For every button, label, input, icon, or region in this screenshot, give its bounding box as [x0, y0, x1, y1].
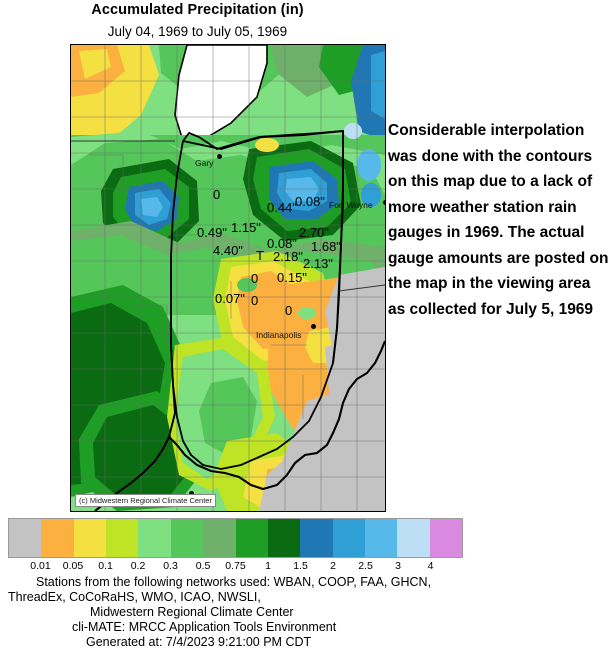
page-subtitle: July 04, 1969 to July 05, 1969 — [0, 24, 395, 39]
station-value: 2.70" — [299, 225, 329, 240]
city-dot-fort-wayne — [383, 200, 386, 205]
colorbar-tick: 0.05 — [63, 560, 83, 572]
colorbar-segment-1 — [41, 519, 73, 557]
station-value: T — [256, 248, 264, 263]
colorbar-segment-10 — [333, 519, 365, 557]
colorbar-swatches — [8, 518, 463, 558]
colorbar-tick: 2.5 — [358, 560, 373, 572]
colorbar-segment-2 — [74, 519, 106, 557]
colorbar-tick: 0.1 — [98, 560, 113, 572]
footer-organization: Midwestern Regional Climate Center — [90, 605, 294, 621]
colorbar-segment-12 — [397, 519, 429, 557]
colorbar-tick: 2 — [330, 560, 336, 572]
station-value: 1.15" — [231, 220, 261, 235]
station-value: 1.68" — [311, 239, 341, 254]
colorbar: 0.01 0.05 0.1 0.2 0.3 0.5 0.75 1 1.5 2 2… — [8, 518, 463, 576]
map-raster — [71, 45, 385, 511]
colorbar-tick: 4 — [428, 560, 434, 572]
colorbar-segment-0 — [9, 519, 41, 557]
city-label-fort-wayne: Fort Wayne — [329, 200, 373, 210]
colorbar-segment-4 — [138, 519, 170, 557]
colorbar-tick: 0.75 — [225, 560, 245, 572]
station-value: 4.40" — [213, 243, 243, 258]
colorbar-segment-5 — [171, 519, 203, 557]
colorbar-tick: 0.2 — [131, 560, 146, 572]
colorbar-segment-11 — [365, 519, 397, 557]
station-value: 0 — [285, 303, 292, 318]
colorbar-segment-6 — [203, 519, 235, 557]
city-dot-indianapolis — [311, 324, 316, 329]
station-value: 0.07" — [215, 291, 245, 306]
page-title: Accumulated Precipitation (in) — [0, 2, 395, 18]
footer-networks-line2: ThreadEx, CoCoRaHS, WMO, ICAO, NWSLI, — [8, 590, 261, 606]
station-value: 2.18" — [273, 249, 303, 264]
precipitation-map[interactable]: Gary Fort Wayne Indianapolis Evansville … — [70, 44, 386, 512]
station-value: 0.08" — [295, 194, 325, 209]
colorbar-tick: 0.3 — [163, 560, 178, 572]
station-value: 2.13" — [303, 256, 333, 271]
colorbar-tick: 1 — [265, 560, 271, 572]
colorbar-tick: 0.01 — [30, 560, 50, 572]
station-value: 0 — [251, 271, 258, 286]
station-value: 0.15" — [277, 270, 307, 285]
city-label-gary: Gary — [195, 158, 213, 168]
colorbar-segment-7 — [236, 519, 268, 557]
colorbar-segment-3 — [106, 519, 138, 557]
map-credit: (c) Midwestern Regional Climate Center — [75, 494, 216, 507]
colorbar-ticks: 0.01 0.05 0.1 0.2 0.3 0.5 0.75 1 1.5 2 2… — [8, 558, 463, 576]
colorbar-segment-8 — [268, 519, 300, 557]
footer-application: cli-MATE: MRCC Application Tools Environ… — [72, 620, 336, 636]
colorbar-tick: 3 — [395, 560, 401, 572]
colorbar-segment-13 — [430, 519, 462, 557]
station-value: 0 — [251, 293, 258, 308]
precipitation-map-page: Accumulated Precipitation (in) July 04, … — [0, 0, 611, 643]
station-value: 0.49" — [197, 225, 227, 240]
annotation-text: Considerable interpolation was done with… — [388, 118, 610, 322]
colorbar-tick: 1.5 — [293, 560, 308, 572]
footer-networks-line1: Stations from the following networks use… — [36, 575, 431, 591]
city-label-indianapolis: Indianapolis — [256, 330, 301, 340]
colorbar-segment-9 — [300, 519, 332, 557]
city-dot-gary — [217, 154, 222, 159]
colorbar-tick: 0.5 — [196, 560, 211, 572]
station-value: 0.44" — [267, 200, 297, 215]
station-value: 0 — [213, 187, 220, 202]
